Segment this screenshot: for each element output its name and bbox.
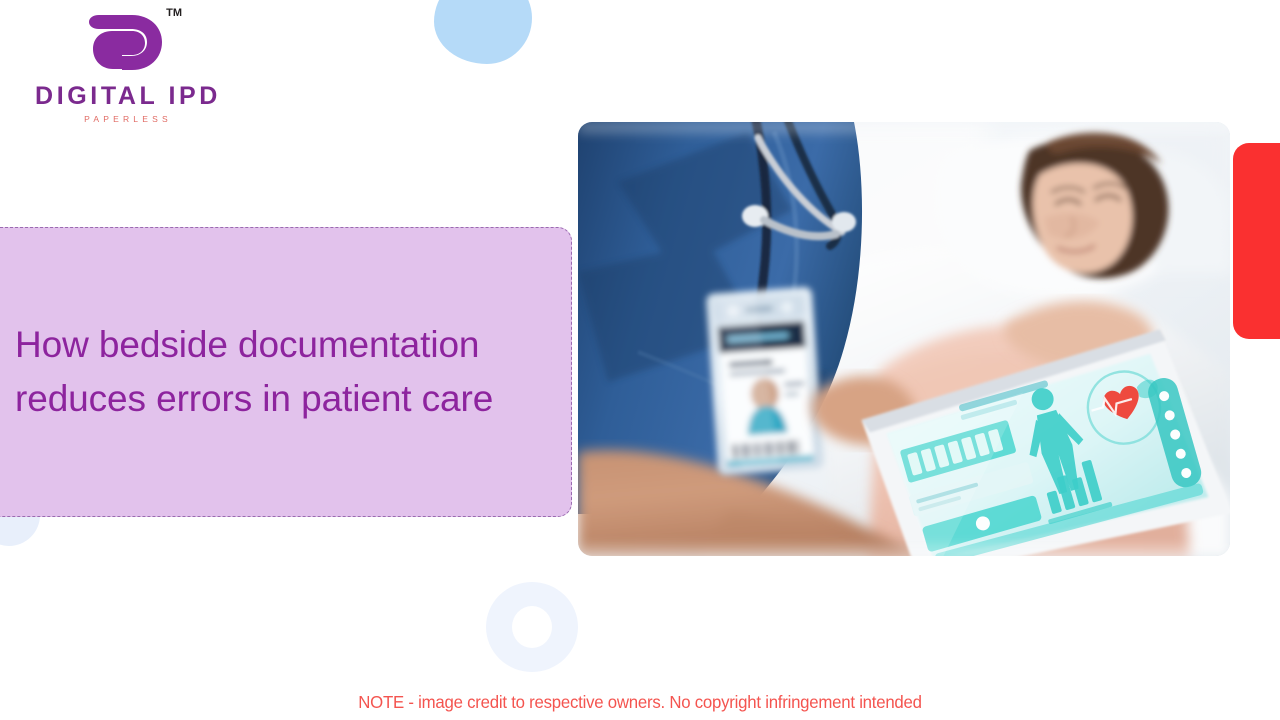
copyright-note: NOTE - image credit to respective owners… [26,692,1255,713]
red-accent-bar [1233,143,1280,339]
pale-blue-ring-icon [486,582,578,672]
hero-photo [578,122,1230,556]
hero-photo-illustration [578,122,1230,556]
blue-blob-icon [434,0,532,64]
page-title: How bedside documentation reduces errors… [0,318,571,427]
logo-tagline: PAPERLESS [28,115,228,124]
slide-canvas: TM DIGITAL IPD PAPERLESS How bedside doc… [0,0,1280,720]
logo-wordmark: DIGITAL IPD [28,84,228,109]
brand-logo: TM DIGITAL IPD PAPERLESS [28,6,228,124]
title-panel: How bedside documentation reduces errors… [0,227,572,517]
spiral-d-logo-icon [78,6,178,78]
trademark-symbol: TM [166,8,182,19]
logo-mark-wrapper: TM [78,6,178,78]
